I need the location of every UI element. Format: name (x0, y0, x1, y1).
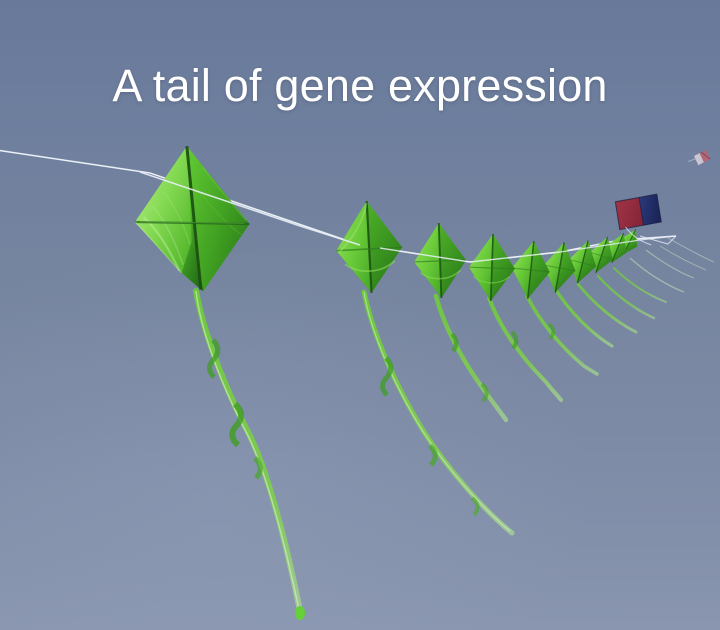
kite-5 (509, 239, 553, 301)
tail-filaments (630, 238, 714, 292)
kite-4 (468, 233, 516, 302)
kite-tails (196, 238, 714, 620)
tail-2 (364, 292, 512, 533)
page-title: A tail of gene expression (0, 62, 720, 110)
distant-kite (686, 149, 710, 167)
tail-6 (556, 290, 612, 346)
lead-kite (130, 142, 254, 296)
tail-4 (489, 298, 561, 400)
kite-photo-canvas: A tail of gene expression (0, 0, 720, 630)
tail-lead (196, 291, 305, 620)
kite-line (0, 150, 676, 262)
kite-2 (334, 199, 405, 294)
tail-5 (527, 296, 597, 374)
